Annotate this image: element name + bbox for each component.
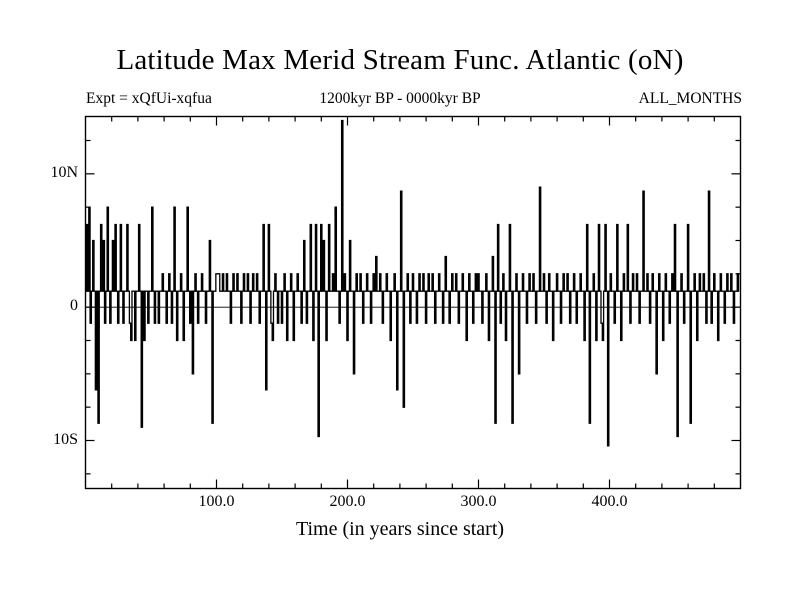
x-tick-label: 200.0 <box>308 493 388 511</box>
y-tick-label: 10N <box>8 164 78 182</box>
y-tick-label: 10S <box>8 431 78 449</box>
y-tick-label: 0 <box>8 297 78 315</box>
axis-ticks <box>86 117 741 489</box>
plot-frame <box>86 117 741 489</box>
months-label: ALL_MONTHS <box>639 90 742 108</box>
page-title: Latitude Max Merid Stream Func. Atlantic… <box>0 44 800 77</box>
data-series-line <box>86 121 740 446</box>
x-tick-label: 100.0 <box>177 493 257 511</box>
x-axis-title: Time (in years since start) <box>0 518 800 541</box>
x-tick-label: 400.0 <box>570 493 650 511</box>
plot-figure: Latitude Max Merid Stream Func. Atlantic… <box>0 0 800 600</box>
x-tick-label: 300.0 <box>439 493 519 511</box>
